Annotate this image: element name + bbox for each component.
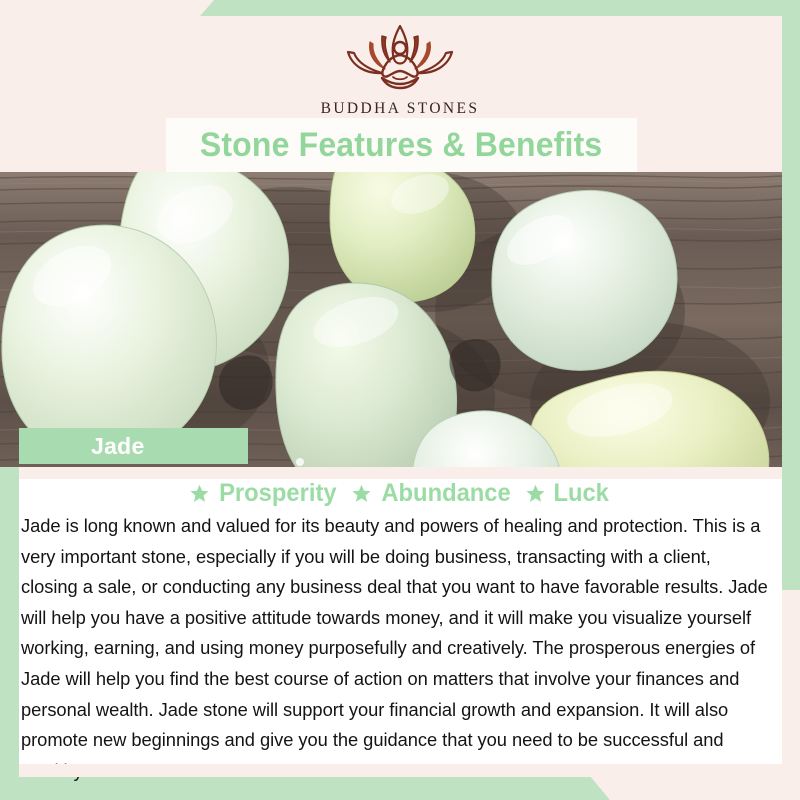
title-banner: Stone Features & Benefits [166, 118, 637, 172]
panel-bottom-tint [19, 764, 782, 777]
page-title: Stone Features & Benefits [200, 126, 603, 165]
stone-photo-graphic [0, 172, 782, 467]
benefits-row: Prosperity Abundance Luck [19, 479, 782, 508]
stone-name-text: Jade [91, 433, 145, 460]
star-icon [190, 484, 209, 503]
stone-photo [0, 172, 782, 467]
infographic-card: BUDDHA STONES [0, 0, 800, 800]
decor-top-green-band [0, 0, 800, 16]
benefit-item-prosperity: Prosperity [190, 479, 340, 508]
brand-logo-block: BUDDHA STONES [0, 22, 800, 118]
star-icon [352, 484, 371, 503]
description-panel: Prosperity Abundance Luck Jade is long k… [19, 467, 782, 777]
star-icon [526, 484, 545, 503]
decor-left-green-strip-lower [0, 455, 19, 782]
benefit-label-prosperity: Prosperity [220, 479, 337, 508]
benefit-label-luck: Luck [554, 479, 609, 508]
stone-name-label: Jade [19, 428, 248, 464]
benefit-item-abundance: Abundance [352, 479, 514, 508]
stone-description-text: Jade is long known and valued for its be… [21, 511, 770, 786]
benefit-item-luck: Luck [526, 479, 610, 508]
lotus-meditation-icon [330, 22, 470, 94]
benefit-label-abundance: Abundance [381, 479, 510, 508]
brand-wordmark: BUDDHA STONES [321, 100, 480, 118]
panel-top-tint [19, 467, 782, 479]
